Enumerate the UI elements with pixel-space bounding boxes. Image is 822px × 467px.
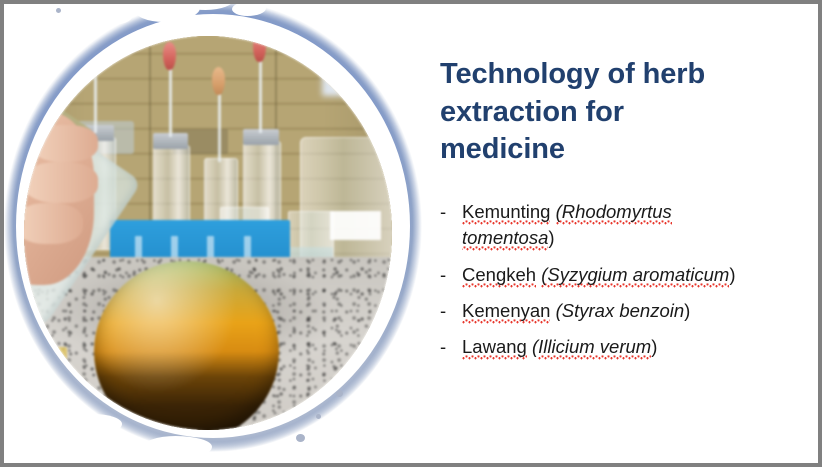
- list-item-text: Kemunting (Rhodomyrtus tomentosa): [462, 199, 748, 252]
- photo-scene: [24, 36, 392, 430]
- pipette-stem: [218, 88, 221, 162]
- common-name: Cengkeh: [462, 264, 536, 288]
- list-item: - Cengkeh (Syzygium aromaticum): [440, 262, 796, 288]
- scientific-name: Styrax benzoin: [562, 300, 684, 321]
- round-bottom-flask-bulb: [94, 261, 278, 430]
- finger: [24, 203, 83, 244]
- bullet-marker: -: [440, 262, 462, 288]
- slide-frame: Technology of herb extraction for medici…: [0, 0, 822, 467]
- paren-close-char: ): [684, 300, 690, 321]
- paint-splatter-dot: [296, 434, 305, 442]
- paint-splatter-dot: [56, 8, 61, 13]
- paren-open-char: (: [556, 201, 562, 225]
- window-light-patch: [322, 36, 392, 96]
- lab-extraction-photo: [24, 36, 392, 430]
- text-column: Technology of herb extraction for medici…: [440, 56, 796, 370]
- bullet-marker: -: [440, 298, 462, 324]
- bullet-marker: -: [440, 199, 462, 225]
- scientific-name: Syzygium aromaticum: [547, 264, 729, 288]
- paren-close-char: ): [548, 227, 554, 248]
- finger: [24, 162, 98, 203]
- pipette-bulb: [163, 42, 176, 70]
- paren-close-char: ): [729, 264, 735, 285]
- paren-close-char: ): [651, 336, 657, 357]
- jar-label: [330, 211, 381, 240]
- common-name: Kemunting: [462, 201, 550, 225]
- list-item-text: Lawang (Illicium verum): [462, 334, 748, 360]
- common-name: Lawang: [462, 336, 527, 360]
- photo-media-zone: [4, 4, 456, 463]
- scientific-name: Illicium verum: [538, 336, 651, 360]
- list-item: - Kemenyan (Styrax benzoin): [440, 298, 796, 324]
- pipette-stem: [169, 63, 172, 137]
- herb-list: - Kemunting (Rhodomyrtus tomentosa) - Ce…: [440, 199, 796, 360]
- pipette-bulb: [253, 36, 266, 62]
- pipette-bulb: [212, 67, 225, 95]
- list-item-text: Cengkeh (Syzygium aromaticum): [462, 262, 748, 288]
- paint-splatter-chip: [142, 436, 212, 460]
- common-name: Kemenyan: [462, 300, 550, 324]
- finger: [32, 125, 99, 162]
- bullet-marker: -: [440, 334, 462, 360]
- small-amber-vial: [28, 347, 67, 409]
- pipette-stem: [259, 55, 262, 133]
- list-item: - Kemunting (Rhodomyrtus tomentosa): [440, 199, 796, 252]
- list-item-text: Kemenyan (Styrax benzoin): [462, 298, 748, 324]
- slide-canvas: Technology of herb extraction for medici…: [4, 4, 818, 463]
- pipette-stem: [94, 59, 97, 133]
- page-title: Technology of herb extraction for medici…: [440, 56, 750, 169]
- paren-open: [550, 201, 555, 222]
- list-item: - Lawang (Illicium verum): [440, 334, 796, 360]
